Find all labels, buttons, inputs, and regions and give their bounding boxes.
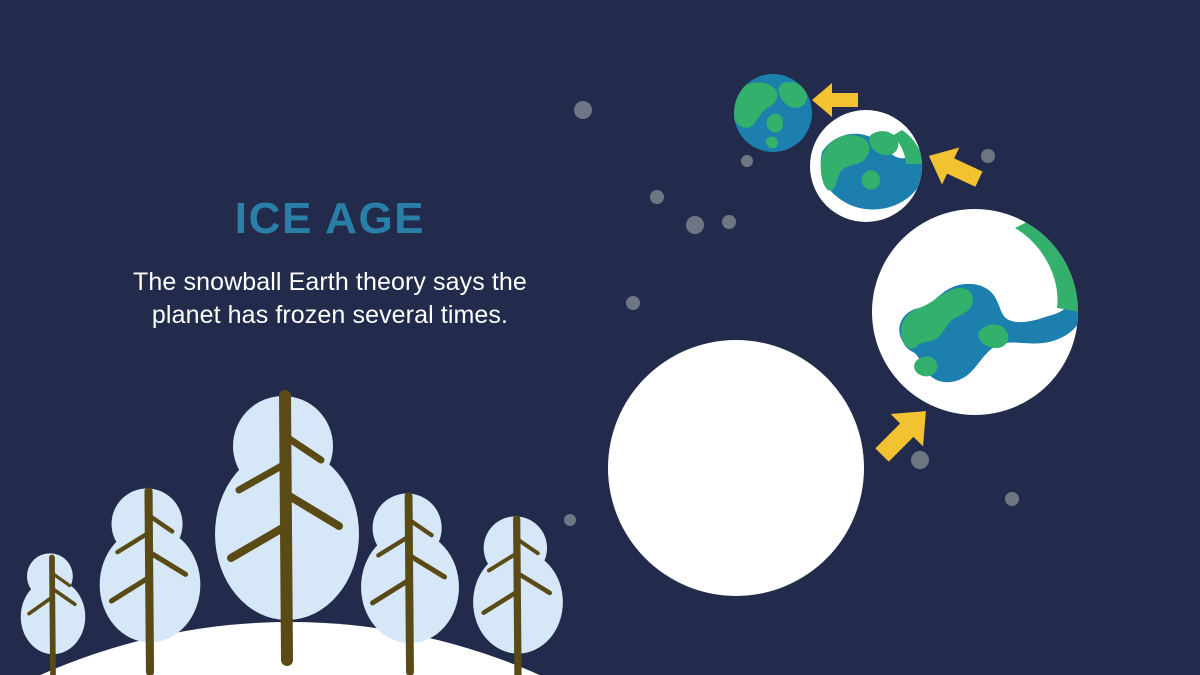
star-dot (722, 215, 736, 229)
star-dot (911, 451, 929, 469)
star-dot (650, 190, 664, 204)
star-dot (626, 296, 640, 310)
moon (608, 340, 864, 596)
slide-canvas: ICE AGE The snowball Earth theory says t… (0, 0, 1200, 675)
star-dot (574, 101, 592, 119)
page-subtitle: The snowball Earth theory says the plane… (100, 266, 560, 333)
star-dot (1005, 492, 1019, 506)
star-dot (686, 216, 704, 234)
star-dot (564, 514, 576, 526)
star-dot (741, 155, 753, 167)
page-title: ICE AGE (100, 196, 560, 242)
illustration-scene (0, 0, 1200, 675)
text-block: ICE AGE The snowball Earth theory says t… (100, 196, 560, 333)
star-dot (981, 149, 995, 163)
